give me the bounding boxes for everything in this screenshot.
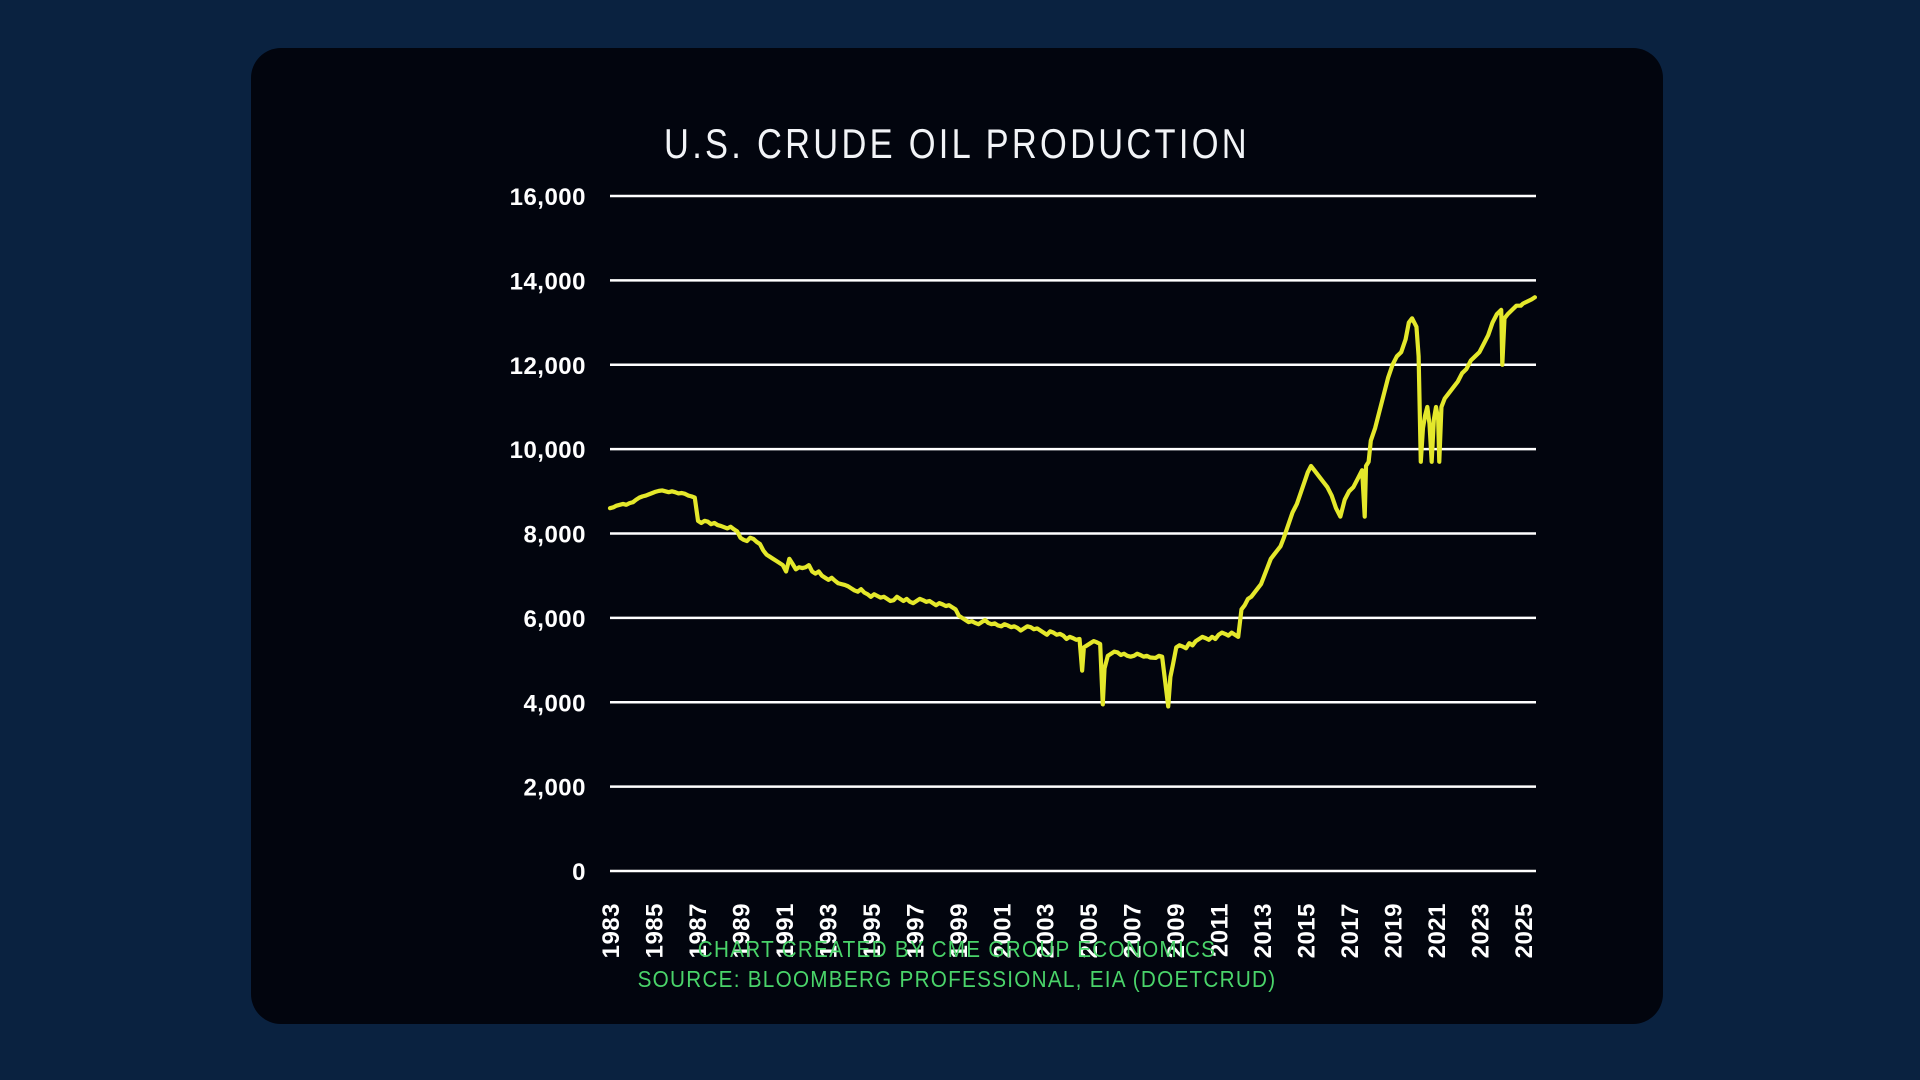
y-axis-tick-label: 0 bbox=[572, 859, 586, 886]
chart-footer: CHART CREATED BY CME GROUP ECONOMICS SOU… bbox=[322, 934, 1593, 994]
y-axis-tick-label: 8,000 bbox=[523, 522, 586, 549]
data-series-group bbox=[610, 297, 1535, 706]
y-axis-tick-label: 4,000 bbox=[523, 690, 586, 717]
footer-source-line: SOURCE: BLOOMBERG PROFESSIONAL, EIA (DOE… bbox=[322, 964, 1593, 994]
chart-card: U.S. CRUDE OIL PRODUCTION 16,00014,00012… bbox=[251, 48, 1663, 1024]
series-line bbox=[610, 297, 1535, 706]
y-axis-tick-label: 10,000 bbox=[510, 437, 586, 464]
y-axis-tick-label: 2,000 bbox=[523, 775, 586, 802]
y-axis-tick-labels: 16,00014,00012,00010,0008,0006,0004,0002… bbox=[510, 184, 586, 886]
chart-page: U.S. CRUDE OIL PRODUCTION 16,00014,00012… bbox=[0, 0, 1920, 1080]
chart-plot-area: 16,00014,00012,00010,0008,0006,0004,0002… bbox=[251, 48, 1663, 1024]
y-axis-tick-label: 14,000 bbox=[510, 268, 586, 295]
gridlines-group bbox=[610, 196, 1536, 871]
footer-credit-line: CHART CREATED BY CME GROUP ECONOMICS bbox=[322, 934, 1593, 964]
y-axis-tick-label: 12,000 bbox=[510, 353, 586, 380]
y-axis-tick-label: 6,000 bbox=[523, 606, 586, 633]
y-axis-tick-label: 16,000 bbox=[510, 184, 586, 211]
